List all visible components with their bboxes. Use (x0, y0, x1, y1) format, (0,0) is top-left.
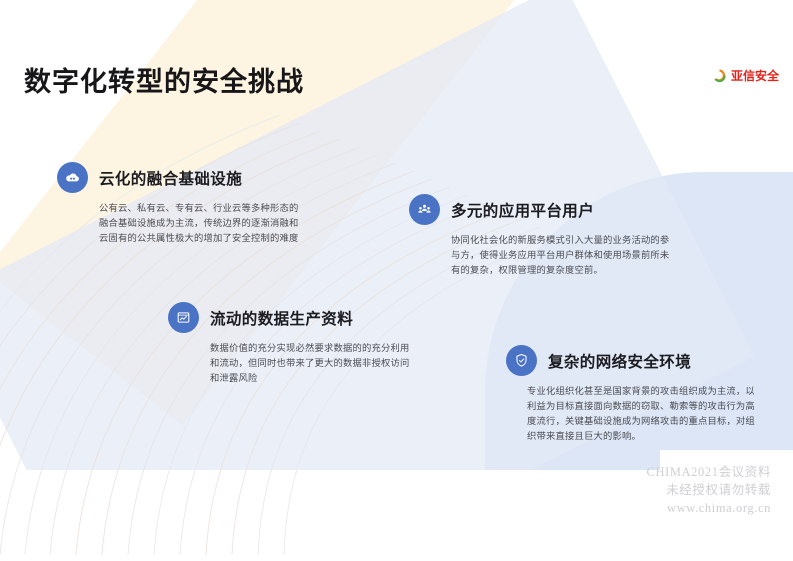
challenge-card-flowing-data-assets: 流动的数据生产资料 数据价值的充分实现必然要求数据的的充分利用和流动，但同时也带… (168, 302, 423, 386)
challenge-card-cloud-infrastructure: 云化的融合基础设施 公有云、私有云、专有云、行业云等多种形态的融合基础设施成为主… (57, 162, 302, 246)
card-body: 数据价值的充分实现必然要求数据的的充分利用和流动，但同时也带来了更大的数据非授权… (210, 341, 418, 386)
card-title: 云化的融合基础设施 (99, 167, 242, 189)
data-chart-icon (168, 302, 199, 333)
card-header: 多元的应用平台用户 (409, 194, 674, 225)
aisec-ring-icon (712, 68, 727, 83)
card-body: 专业化组织化甚至是国家背景的攻击组织成为主流，以利益为目标直接面向数据的窃取、勒… (527, 384, 759, 444)
copyright-watermark: CHIMA2021会议资料 未经授权请勿转载 www.chima.org.cn (647, 463, 771, 517)
card-body-text: 协同化社会化的新服务模式引入大量的业务活动的参与方，使得业务应用平台用户群体和使… (451, 233, 673, 278)
challenge-card-complex-security-environment: 复杂的网络安全环境 专业化组织化甚至是国家背景的攻击组织成为主流，以利益为目标直… (506, 345, 771, 444)
card-body: 公有云、私有云、专有云、行业云等多种形态的融合基础设施成为主流，传统边界的逐渐消… (99, 201, 304, 246)
card-body: 协同化社会化的新服务模式引入大量的业务活动的参与方，使得业务应用平台用户群体和使… (451, 233, 673, 278)
cloud-icon (57, 162, 88, 193)
card-body-text: 专业化组织化甚至是国家背景的攻击组织成为主流，以利益为目标直接面向数据的窃取、勒… (527, 384, 759, 444)
card-header: 云化的融合基础设施 (57, 162, 302, 193)
card-body-text: 公有云、私有云、专有云、行业云等多种形态的融合基础设施成为主流，传统边界的逐渐消… (99, 201, 304, 246)
slide-canvas: 数字化转型的安全挑战 亚信安全 云化的融合基础设施 公有云、私有云、专有 (0, 0, 793, 561)
card-title: 多元的应用平台用户 (451, 199, 594, 221)
watermark-line-3: www.chima.org.cn (647, 499, 771, 517)
shield-icon (506, 345, 537, 376)
page-title: 数字化转型的安全挑战 (24, 60, 304, 99)
users-group-icon (409, 194, 440, 225)
card-header: 流动的数据生产资料 (168, 302, 423, 333)
brand-name: 亚信安全 (731, 70, 779, 82)
watermark-line-1: CHIMA2021会议资料 (647, 463, 771, 481)
card-body-text: 数据价值的充分实现必然要求数据的的充分利用和流动，但同时也带来了更大的数据非授权… (210, 341, 418, 386)
card-title: 复杂的网络安全环境 (548, 350, 691, 372)
watermark-line-2: 未经授权请勿转载 (647, 481, 771, 499)
card-title: 流动的数据生产资料 (210, 307, 353, 329)
card-header: 复杂的网络安全环境 (506, 345, 771, 376)
challenge-card-diverse-platform-users: 多元的应用平台用户 协同化社会化的新服务模式引入大量的业务活动的参与方，使得业务… (409, 194, 674, 278)
brand-logo: 亚信安全 (712, 68, 779, 83)
